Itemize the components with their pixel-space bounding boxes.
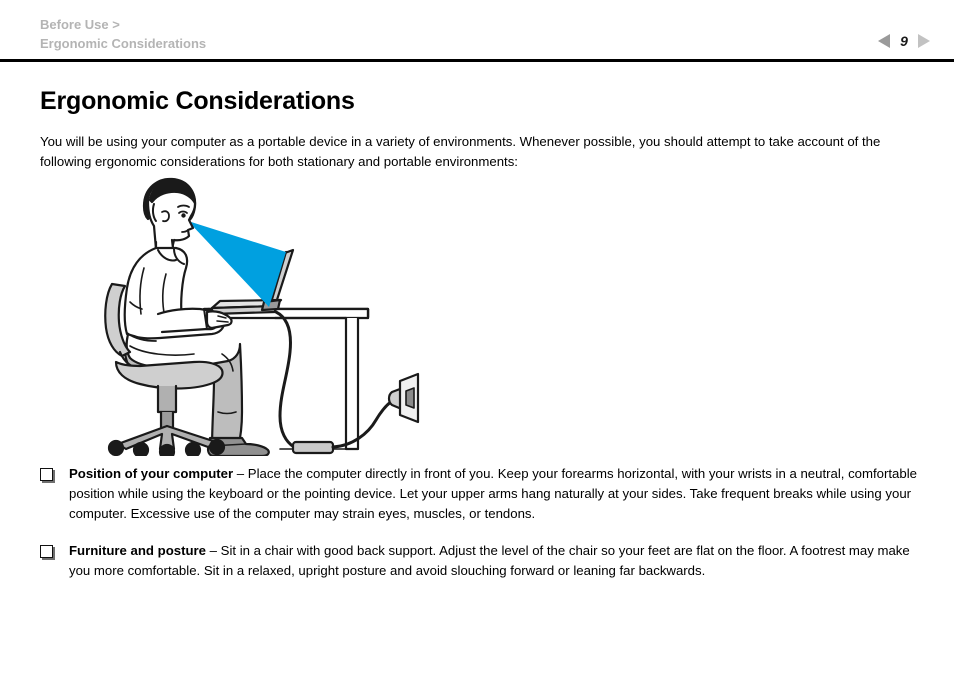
breadcrumb-separator: > [112, 17, 120, 32]
list-item: Position of your computer – Place the co… [40, 464, 920, 524]
header-divider [0, 59, 954, 62]
triangle-right-icon[interactable] [918, 34, 930, 48]
power-cord [276, 312, 394, 453]
breadcrumb-item-ergonomic-considerations[interactable]: Ergonomic Considerations [40, 34, 206, 53]
page-number: 9 [899, 33, 909, 49]
intro-paragraph: You will be using your computer as a por… [40, 132, 912, 172]
ergonomic-considerations-list: Position of your computer – Place the co… [40, 464, 920, 581]
list-item-term: Furniture and posture [69, 543, 206, 558]
page-header: Before Use > Ergonomic Considerations 9 [0, 0, 954, 60]
list-item: Furniture and posture – Sit in a chair w… [40, 541, 920, 581]
wall-outlet [389, 374, 418, 422]
list-item-term: Position of your computer [69, 466, 233, 481]
sight-line-cone [188, 221, 286, 307]
page-title: Ergonomic Considerations [40, 86, 920, 116]
square-bullet-icon [40, 545, 53, 558]
content-area: Ergonomic Considerations You will be usi… [40, 86, 920, 172]
square-bullet-icon [40, 468, 53, 481]
pager: 9 [878, 32, 930, 50]
breadcrumb: Before Use > Ergonomic Considerations [40, 15, 206, 53]
breadcrumb-item-before-use[interactable]: Before Use [40, 17, 109, 32]
ergonomics-illustration [100, 176, 420, 456]
triangle-left-icon[interactable] [878, 34, 890, 48]
